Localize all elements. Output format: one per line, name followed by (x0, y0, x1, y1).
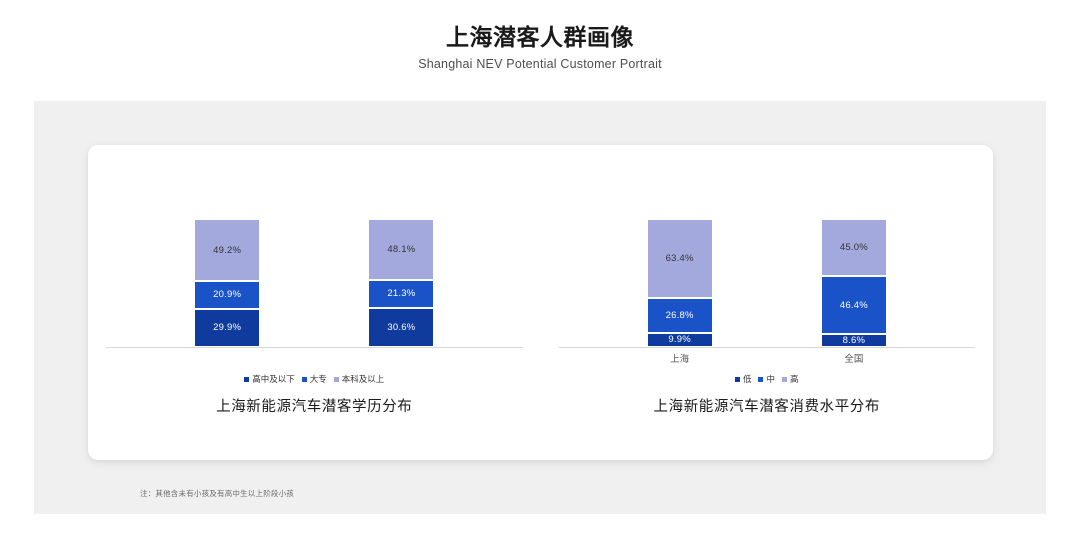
legend-item[interactable]: 高中及以下 (244, 373, 295, 385)
bar-segment-mid[interactable]: 21.3% (368, 280, 434, 308)
footnote: 注：其他含未有小孩及有高中生以上阶段小孩 (140, 488, 294, 499)
bar-segment-low[interactable]: 30.6% (368, 308, 434, 347)
legend-swatch-icon (244, 377, 249, 382)
legend-item[interactable]: 大专 (302, 373, 327, 385)
page-header: 上海潜客人群画像 Shanghai NEV Potential Customer… (0, 22, 1080, 73)
chart-education: 49.2% 20.9% 29.9% 48.1% 21.3% 30.6% (88, 145, 541, 460)
page-subtitle: Shanghai NEV Potential Customer Portrait (0, 55, 1080, 73)
legend-swatch-icon (735, 377, 740, 382)
chart-caption: 上海新能源汽车潜客学历分布 (88, 395, 541, 416)
bar-segment-high[interactable]: 45.0% (821, 219, 887, 276)
bar-segment-mid[interactable]: 20.9% (194, 281, 260, 309)
legend-consumption: 低 中 高 (541, 373, 994, 385)
bars-consumption: 63.4% 26.8% 9.9% 45.0% 46.4% 8.6% (541, 157, 994, 347)
chart-card: 49.2% 20.9% 29.9% 48.1% 21.3% 30.6% (88, 145, 993, 460)
legend-label: 本科及以上 (342, 373, 385, 385)
legend-item[interactable]: 中 (758, 373, 775, 385)
x-axis-label-shanghai: 上海 (647, 351, 713, 365)
legend-item[interactable]: 低 (735, 373, 752, 385)
charts-row: 49.2% 20.9% 29.9% 48.1% 21.3% 30.6% (88, 145, 993, 460)
page-title: 上海潜客人群画像 (0, 22, 1080, 52)
bar-column: 45.0% 46.4% 8.6% (821, 157, 887, 347)
bar-stack: 49.2% 20.9% 29.9% (194, 219, 260, 347)
bar-segment-high[interactable]: 49.2% (194, 219, 260, 281)
chart-caption: 上海新能源汽车潜客消费水平分布 (541, 395, 994, 416)
bar-segment-high[interactable]: 63.4% (647, 219, 713, 298)
legend-swatch-icon (758, 377, 763, 382)
bar-segment-low[interactable]: 9.9% (647, 333, 713, 347)
x-axis-line (106, 347, 523, 348)
bar-stack: 45.0% 46.4% 8.6% (821, 219, 887, 347)
legend-label: 低 (743, 373, 752, 385)
x-axis-line (559, 347, 976, 348)
chart-consumption: 63.4% 26.8% 9.9% 45.0% 46.4% 8.6% (541, 145, 994, 460)
bar-segment-mid[interactable]: 26.8% (647, 298, 713, 333)
plot-area-education: 49.2% 20.9% 29.9% 48.1% 21.3% 30.6% (88, 157, 541, 347)
bar-segment-low[interactable]: 8.6% (821, 334, 887, 346)
bar-stack: 48.1% 21.3% 30.6% (368, 219, 434, 347)
x-axis-category-labels: 上海 全国 (541, 351, 994, 365)
bar-column: 48.1% 21.3% 30.6% (368, 157, 434, 347)
legend-label: 中 (766, 373, 775, 385)
legend-label: 大专 (310, 373, 327, 385)
bar-stack: 63.4% 26.8% 9.9% (647, 219, 713, 347)
bars-education: 49.2% 20.9% 29.9% 48.1% 21.3% 30.6% (88, 157, 541, 347)
legend-item[interactable]: 本科及以上 (334, 373, 385, 385)
bar-column: 49.2% 20.9% 29.9% (194, 157, 260, 347)
legend-swatch-icon (782, 377, 787, 382)
legend-swatch-icon (302, 377, 307, 382)
legend-education: 高中及以下 大专 本科及以上 (88, 373, 541, 385)
legend-swatch-icon (334, 377, 339, 382)
legend-label: 高 (790, 373, 799, 385)
legend-item[interactable]: 高 (782, 373, 799, 385)
x-axis-label-national: 全国 (821, 351, 887, 365)
legend-label: 高中及以下 (252, 373, 295, 385)
bar-segment-mid[interactable]: 46.4% (821, 276, 887, 335)
bar-column: 63.4% 26.8% 9.9% (647, 157, 713, 347)
bar-segment-low[interactable]: 29.9% (194, 309, 260, 347)
plot-area-consumption: 63.4% 26.8% 9.9% 45.0% 46.4% 8.6% (541, 157, 994, 347)
bar-segment-high[interactable]: 48.1% (368, 219, 434, 280)
outer-panel: 49.2% 20.9% 29.9% 48.1% 21.3% 30.6% (34, 101, 1046, 514)
